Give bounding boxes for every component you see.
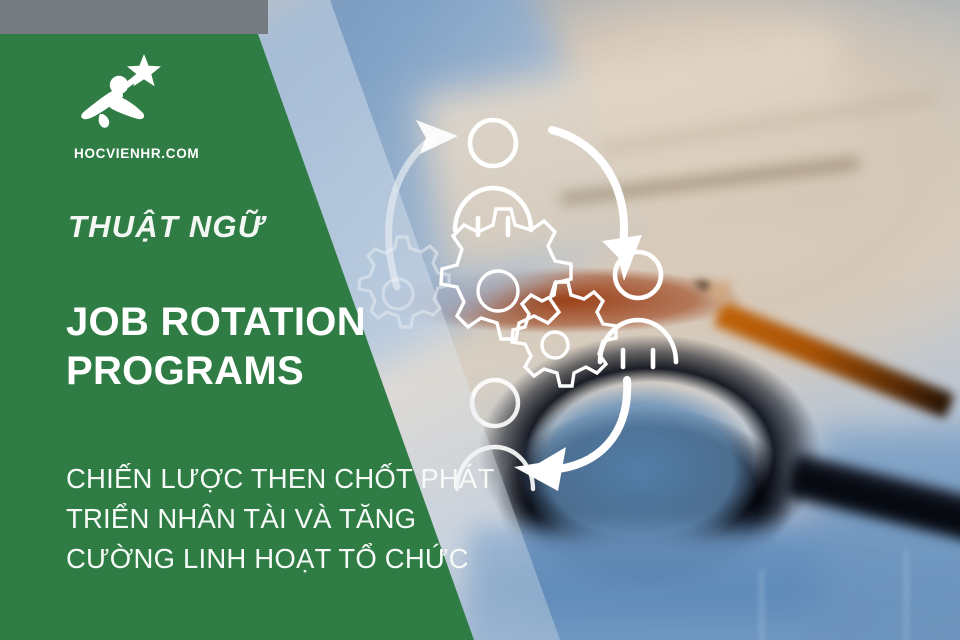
page-subtitle: CHIẾN LƯỢC THEN CHỐT PHÁT TRIỂN NHÂN TÀI… [66, 459, 494, 579]
person-reaching-star-logo-icon [74, 52, 170, 142]
page-title: JOB ROTATION PROGRAMS [66, 298, 366, 396]
brand-logo-text: HOCVIENHR.COM [74, 146, 254, 161]
poster-content: HOCVIENHR.COM THUẬT NGỮ JOB ROTATION PRO… [0, 0, 700, 640]
background-grid-line [760, 570, 763, 640]
background-grid-line-2 [905, 550, 908, 640]
brand-logo[interactable]: HOCVIENHR.COM [74, 52, 254, 161]
kicker-label: THUẬT NGỮ [68, 209, 264, 245]
background-blue-desk-right [820, 430, 960, 640]
poster-canvas: HOCVIENHR.COM THUẬT NGỮ JOB ROTATION PRO… [0, 0, 960, 640]
